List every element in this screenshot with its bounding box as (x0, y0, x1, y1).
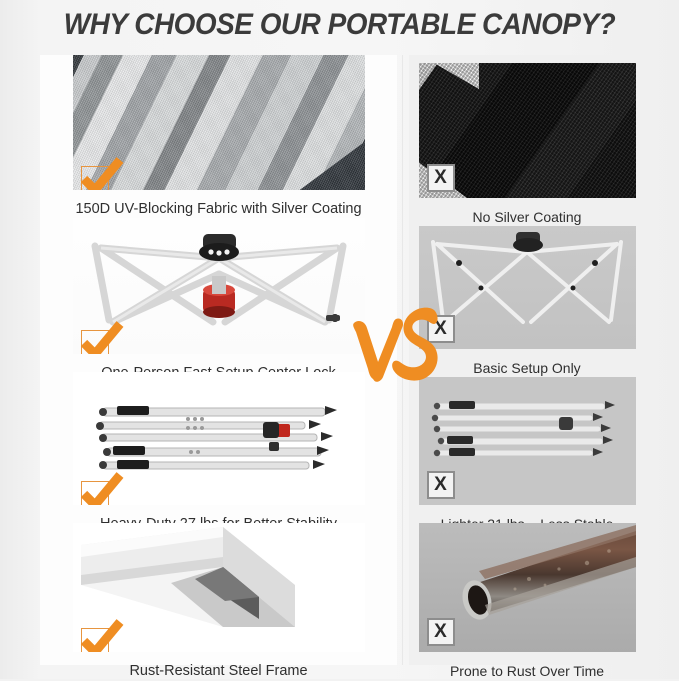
pro-row-1: 150D UV-Blocking Fabric with Silver Coat… (40, 55, 397, 219)
con-caption-2: Basic Setup Only (409, 358, 645, 378)
con-column: X No Silver Coating (409, 55, 645, 665)
con-caption-4: Prone to Rust Over Time (409, 661, 645, 681)
x-mark-icon: X (434, 621, 447, 643)
check-mark-icon (80, 472, 124, 505)
x-badge-4: X (427, 618, 455, 646)
pro-image-3 (73, 372, 365, 505)
con-row-1: X No Silver Coating (409, 63, 645, 227)
con-row-3: X Lighter 21 lbs – Less Stable (409, 377, 645, 534)
pro-row-2: One-Person Fast Setup Center Lock (40, 218, 397, 383)
con-image-2: X (419, 226, 636, 349)
pro-image-2 (73, 218, 365, 354)
x-badge-2: X (427, 315, 455, 343)
con-image-1: X (419, 63, 636, 198)
infographic-root: WHY CHOOSE OUR PORTABLE CANOPY? 150D UV-… (0, 0, 679, 679)
check-mark-icon (80, 619, 124, 652)
con-image-3: X (419, 377, 636, 505)
x-mark-icon: X (434, 474, 447, 496)
x-mark-icon: X (434, 167, 447, 189)
page-title: WHY CHOOSE OUR PORTABLE CANOPY? (24, 8, 655, 42)
pro-column: 150D UV-Blocking Fabric with Silver Coat… (40, 55, 397, 665)
pro-caption-1: 150D UV-Blocking Fabric with Silver Coat… (40, 199, 397, 219)
pro-row-3: Heavy-Duty 27 lbs for Better Stability (40, 372, 397, 534)
check-mark-icon (80, 157, 124, 190)
check-badge-2 (81, 330, 109, 354)
check-mark-icon (80, 321, 124, 354)
pro-image-1 (73, 55, 365, 190)
con-row-4: X Prone to Rust Over Time (409, 523, 645, 681)
pro-image-4 (73, 523, 365, 652)
pro-caption-4: Rust-Resistant Steel Frame (40, 661, 397, 681)
x-mark-icon: X (434, 318, 447, 340)
check-badge-1 (81, 166, 109, 190)
pro-row-4: Rust-Resistant Steel Frame (40, 523, 397, 681)
con-image-4: X (419, 523, 636, 652)
x-badge-1: X (427, 164, 455, 192)
x-badge-3: X (427, 471, 455, 499)
column-divider (402, 55, 403, 665)
check-badge-4 (81, 628, 109, 652)
check-badge-3 (81, 481, 109, 505)
con-caption-1: No Silver Coating (409, 207, 645, 227)
con-row-2: X Basic Setup Only (409, 226, 645, 378)
